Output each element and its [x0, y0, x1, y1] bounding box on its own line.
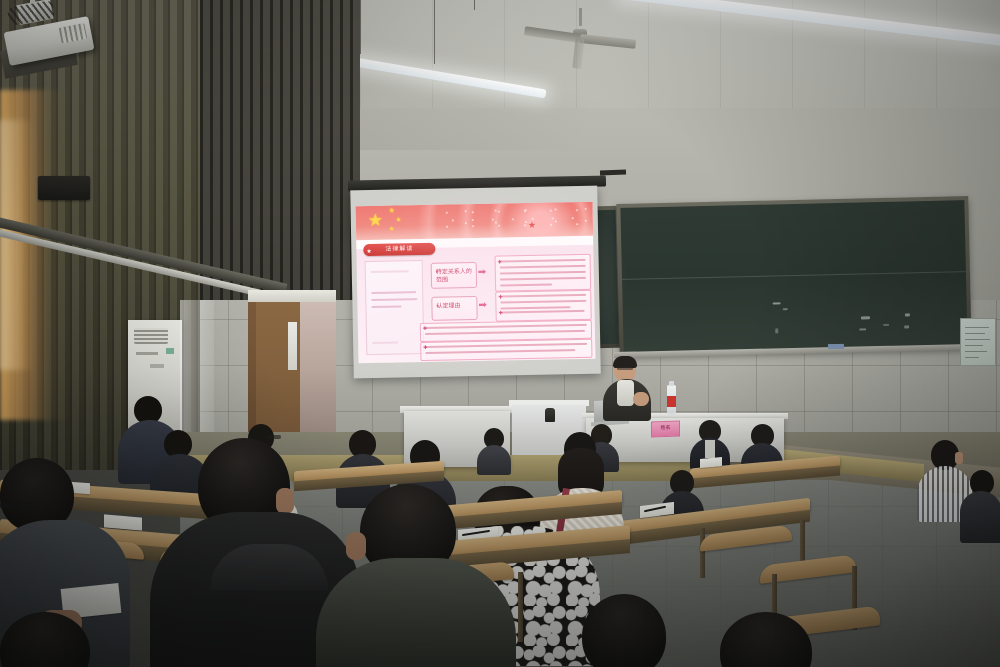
slide-node-2: ✦ 认定理由	[431, 296, 477, 321]
corridor-opening	[300, 300, 336, 444]
blackboard-eraser[interactable]	[828, 344, 844, 349]
classroom-scene: ★ ★ ★ ★ ★ ★ 法律解读 ✦ 特定关系人的范围	[0, 0, 1000, 667]
slide-detail-2: ✚ ✚	[495, 290, 592, 322]
slide-node-1-text: 特定关系人的范围	[436, 268, 474, 285]
slide-detail-1: ✚	[494, 254, 591, 292]
chalk-mark	[773, 302, 781, 304]
flag-star-large-icon: ★	[368, 212, 384, 229]
curtain-sunlight-core	[0, 120, 34, 370]
blackboard-side-panel	[597, 210, 618, 344]
attendee-9b	[960, 470, 1000, 540]
slide-node-2-text: 认定理由	[436, 302, 474, 311]
slide-detail-4: ✚	[420, 339, 592, 361]
chair-leg	[518, 572, 523, 642]
slide-banner: ★ ★ ★ ★ ★	[356, 202, 594, 241]
attendee-front-right	[556, 594, 706, 667]
attendee-4	[316, 484, 506, 667]
presentation-slide: ★ ★ ★ ★ ★ ★ 法律解读 ✦ 特定关系人的范围	[356, 202, 596, 364]
chalk-mark	[861, 316, 870, 319]
projection-screen: ★ ★ ★ ★ ★ ★ 法律解读 ✦ 特定关系人的范围	[350, 186, 601, 379]
slide-node-1: ✦ 特定关系人的范围	[431, 262, 477, 289]
arrow-right-icon: ➡	[478, 301, 487, 311]
attendee-front-left-2	[0, 612, 110, 667]
bottle-cap	[669, 381, 674, 386]
wall-notice-plaque	[960, 318, 996, 366]
presenter-shirt	[617, 380, 634, 406]
ac-indicator	[166, 348, 174, 354]
name-placard-text: 姓名	[652, 422, 679, 436]
wall-light-strip	[180, 300, 214, 440]
slide-title-text: 法律解读	[363, 243, 435, 256]
chalk-mark	[783, 308, 788, 310]
blackboard-seam	[622, 271, 966, 280]
ac-logo	[136, 352, 158, 355]
projector-vent	[59, 23, 88, 44]
name-placard: 姓名	[651, 420, 680, 437]
slide-title-ribbon: ★ 法律解读	[363, 243, 435, 256]
attendee-4-ear	[346, 532, 366, 560]
ribbon-flag-icon: ★	[366, 246, 373, 258]
chalk-mark	[775, 328, 778, 333]
attendee-3-ear	[276, 488, 294, 514]
attendee-front-right-2	[700, 612, 850, 667]
flag-star-small-icon: ★	[396, 217, 402, 223]
attendee-2-glasses	[0, 502, 34, 509]
water-bottle[interactable]	[667, 385, 676, 415]
attendee-row-back-left	[477, 428, 511, 472]
paper-on-desk	[700, 457, 722, 468]
ac-panel	[150, 364, 164, 368]
wall-speaker	[38, 176, 90, 200]
banner-sparkles	[442, 206, 592, 235]
chalk-mark	[905, 313, 910, 316]
chalk-mark	[904, 325, 909, 328]
chalk-mark	[859, 328, 866, 330]
flag-star-small-icon: ★	[389, 227, 395, 233]
arrow-right-icon: ➡	[478, 268, 487, 278]
banner-center-star-icon: ★	[528, 221, 536, 230]
slide-left-card	[365, 260, 425, 355]
attendee-9-ear	[955, 452, 963, 464]
attendee-4-jacket	[316, 558, 516, 667]
presenter-glasses	[617, 367, 633, 370]
bottle-label	[667, 396, 676, 407]
presenter	[600, 358, 656, 420]
blackboard-surface	[620, 200, 967, 352]
presenter-hand	[633, 392, 649, 406]
flag-star-small-icon: ★	[389, 208, 395, 215]
ac-vent	[134, 328, 168, 344]
door-window	[288, 322, 297, 370]
microphone	[545, 408, 555, 422]
desk-leg	[700, 528, 705, 578]
chalk-mark	[883, 324, 889, 326]
blackboard	[616, 196, 971, 356]
door-transom	[248, 290, 336, 302]
